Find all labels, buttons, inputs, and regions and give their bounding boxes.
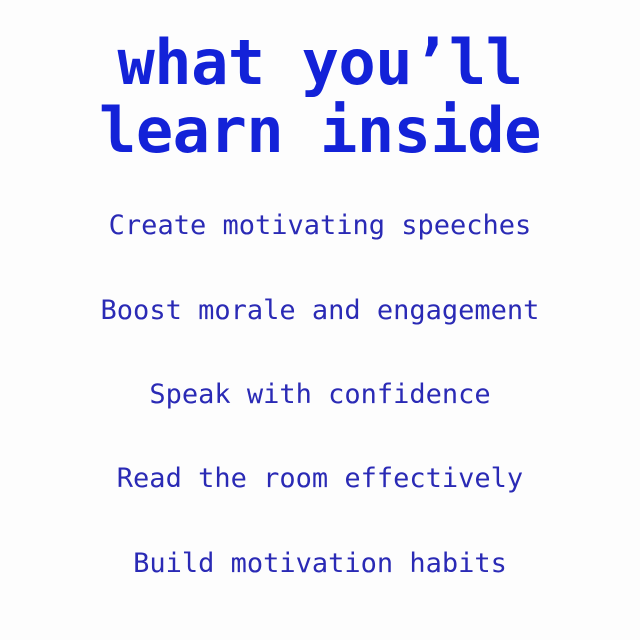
page-title: what you’ll learn inside (8, 22, 632, 162)
list-item: Speak with confidence (8, 378, 632, 412)
benefits-list: Create motivating speeches Boost morale … (8, 162, 632, 616)
page-title-line-2: learn inside (8, 100, 632, 162)
promo-slide: what you’ll learn inside Create motivati… (0, 0, 640, 640)
list-item: Create motivating speeches (8, 209, 632, 243)
list-item: Build motivation habits (8, 547, 632, 581)
list-item: Read the room effectively (8, 462, 632, 496)
page-title-line-1: what you’ll (8, 32, 632, 94)
list-item: Boost morale and engagement (8, 294, 632, 328)
